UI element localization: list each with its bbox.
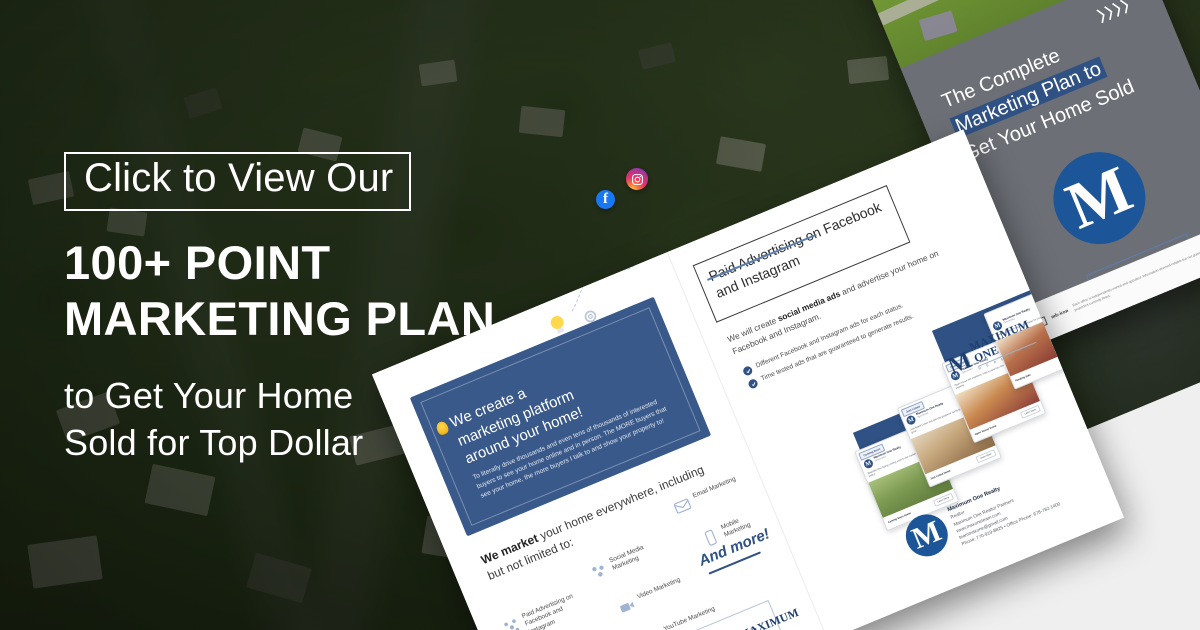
channel-paid-advertising: Paid Advertising on Facebook and Instagr… <box>501 590 588 630</box>
headline-line-1: 100+ POINT <box>64 235 584 291</box>
check-circle-icon <box>742 365 754 377</box>
ad-cta-button[interactable]: Learn More <box>975 449 996 463</box>
advertiser-avatar: M <box>905 414 917 426</box>
network-icon <box>588 560 610 582</box>
headline-group: Click to View Our 100+ POINT MARKETING P… <box>64 152 584 467</box>
mls-icon: mls-icon <box>1051 308 1070 320</box>
ad-footer-text: Just Listed Home <box>930 469 951 480</box>
advertiser-avatar: M <box>863 458 875 470</box>
maximum-one-circle-logo: M <box>1039 138 1159 258</box>
network-icon <box>501 616 523 630</box>
headline-line-4: Sold for Top Dollar <box>64 420 584 467</box>
instagram-icon[interactable] <box>626 168 648 190</box>
check-circle-icon <box>747 378 759 390</box>
channel-label: Social Media Marketing <box>608 534 672 573</box>
channel-social-media: Social Media Marketing <box>588 534 672 582</box>
facebook-icon[interactable]: f <box>596 190 615 209</box>
channel-label: Paid Advertising on Facebook and Instagr… <box>521 590 588 630</box>
click-to-view-cta[interactable]: Click to View Our <box>64 152 411 211</box>
headline-line-3: to Get Your Home <box>64 373 584 420</box>
channel-label: Video Marketing <box>636 576 682 601</box>
click-to-view-label: Click to View Our <box>84 158 393 200</box>
ad-footer-text: Pending Sale <box>1015 374 1031 383</box>
ad-footer-text: Open House Event <box>974 424 997 436</box>
headline-line-2: MARKETING PLAN <box>64 291 584 347</box>
ad-cta-button[interactable]: Learn More <box>1020 405 1041 419</box>
channel-video-marketing: Video Marketing <box>616 576 685 618</box>
network-icon <box>616 596 638 618</box>
promo-banner: Click to View Our 100+ POINT MARKETING P… <box>0 0 1200 630</box>
